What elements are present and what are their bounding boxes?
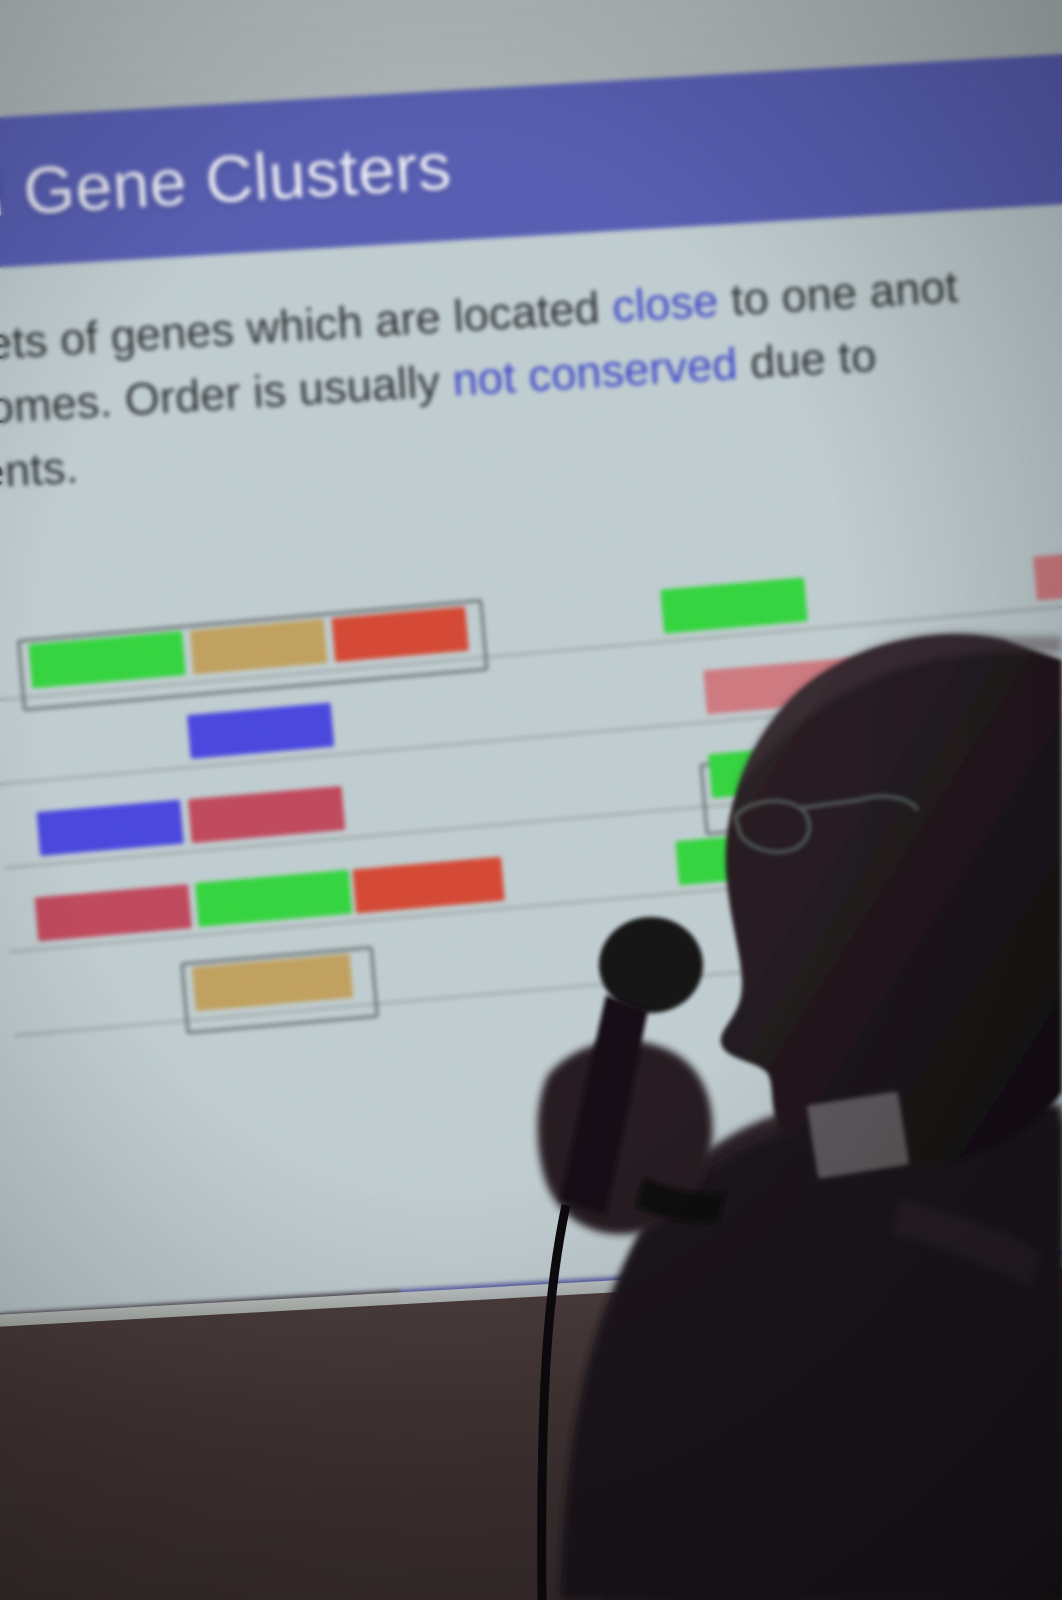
gene-block-crimson [34, 884, 191, 941]
highlighted-phrase: close [611, 275, 720, 332]
highlighted-phrase: not conserved [451, 338, 739, 406]
gene-block-rose [1034, 544, 1062, 601]
slide-body-text: ly, sets of genes which are located clos… [0, 240, 1062, 508]
body-text-run: due to [736, 330, 878, 389]
gene-block-orange_red [352, 856, 504, 913]
gene-block-rose [704, 657, 861, 714]
name-badge [807, 1091, 909, 1178]
gene-block-blue [37, 800, 184, 856]
body-text-run: ements. [0, 441, 80, 501]
page-title: rved Gene Clusters [0, 128, 453, 238]
gene-block-green [675, 828, 827, 885]
photo-stage: − + Zoom ☝ Move A Text [0, 0, 1062, 1600]
gene-block-green [660, 577, 807, 633]
gene-block-blue [187, 703, 334, 759]
gene-cluster-figure: 12345 [0, 542, 1062, 1088]
projection-screen: − + Zoom ☝ Move A Text [0, 0, 1062, 1408]
gene-block-orange_red [838, 814, 995, 871]
body-text-run: to one anot [717, 261, 960, 326]
genome-axis-line [14, 930, 1062, 1037]
gene-block-green [195, 870, 352, 927]
gene-block-crimson [188, 786, 345, 843]
